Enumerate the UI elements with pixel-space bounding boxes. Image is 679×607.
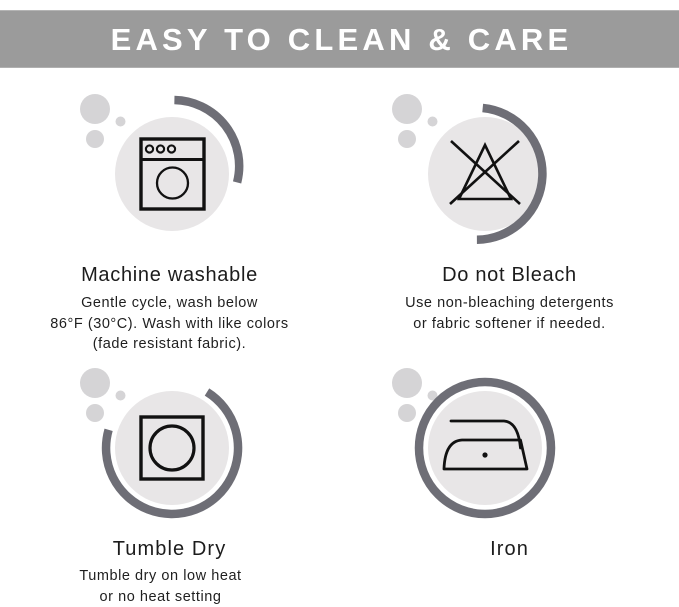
badge-tumble-dry: [0, 356, 339, 524]
bubble-large: [80, 368, 110, 398]
care-card-title: Iron: [340, 538, 679, 560]
badge-graphic: [0, 82, 339, 250]
badge-circle: [428, 391, 542, 505]
care-card-tumble-dry: Tumble Dry Tumble dry on low heat or no …: [0, 356, 339, 607]
badge-machine-washable: [0, 82, 339, 250]
badge-graphic: [0, 356, 339, 524]
bubble-large: [80, 94, 110, 124]
care-card-title: Tumble Dry: [0, 538, 339, 560]
bubble-large: [392, 368, 422, 398]
care-card-grid: Machine washable Gentle cycle, wash belo…: [0, 68, 679, 593]
bubble-medium: [398, 130, 416, 148]
badge-do-not-bleach: [340, 82, 679, 250]
bubble-small: [116, 391, 126, 401]
bubble-medium: [86, 404, 104, 422]
care-card-description: Use non-bleaching detergents or fabric s…: [360, 293, 660, 334]
bubble-large: [392, 94, 422, 124]
bubble-medium: [86, 130, 104, 148]
bubble-medium: [398, 404, 416, 422]
badge-circle: [115, 117, 229, 231]
care-card-machine-washable: Machine washable Gentle cycle, wash belo…: [0, 82, 339, 355]
care-card-description: Gentle cycle, wash below 86°F (30°C). Wa…: [20, 293, 320, 355]
care-card-iron: Iron: [340, 356, 679, 567]
badge-graphic: [340, 356, 679, 524]
care-card-title: Machine washable: [0, 264, 339, 286]
badge-iron: [340, 356, 679, 524]
care-card-title: Do not Bleach: [340, 264, 679, 286]
care-card-do-not-bleach: Do not Bleach Use non-bleaching detergen…: [340, 82, 679, 334]
badge-circle: [115, 391, 229, 505]
bubble-small: [116, 117, 126, 127]
bubble-small: [428, 117, 438, 127]
care-instructions-infographic: EASY TO CLEAN & CARE: [0, 0, 679, 593]
page-title: EASY TO CLEAN & CARE: [107, 24, 573, 55]
badge-graphic: [340, 82, 679, 250]
care-card-description: Tumble dry on low heat or no heat settin…: [11, 566, 329, 607]
header-banner: EASY TO CLEAN & CARE: [0, 10, 679, 68]
